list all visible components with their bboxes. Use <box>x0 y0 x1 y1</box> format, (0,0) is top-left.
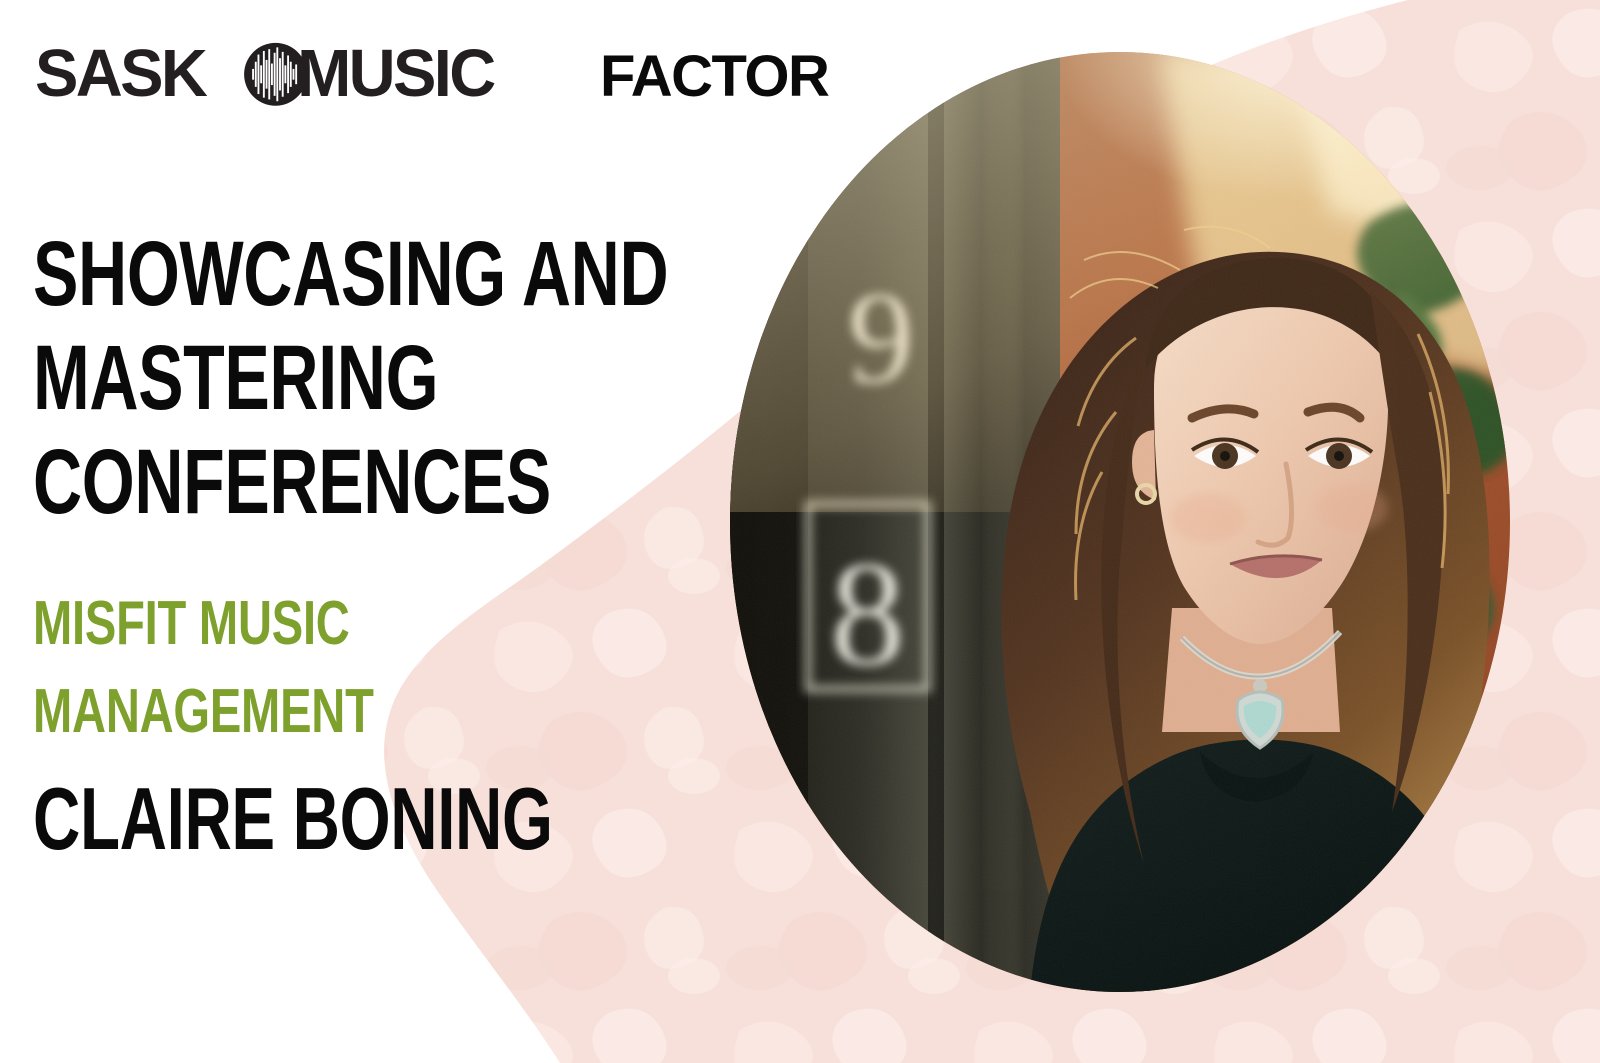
waveform-circle-icon <box>244 43 307 106</box>
factor-logo-text: FACTOR <box>600 46 829 108</box>
headline-line-2: MASTERING <box>33 326 566 430</box>
subtitle-line-2: MANAGEMENT <box>33 668 580 756</box>
headline-block: SHOWCASING AND MASTERING CONFERENCES MIS… <box>33 222 753 868</box>
svg-text:SASK: SASK <box>35 42 207 110</box>
headline-line-3: CONFERENCES <box>33 430 566 534</box>
factor-logo: FACTOR <box>600 46 850 108</box>
speaker-name: CLAIRE BONING <box>33 770 569 868</box>
text-content: SASK MUSIC <box>0 0 780 1063</box>
headline-line-1: SHOWCASING AND <box>33 222 566 326</box>
promo-poster: 9 8 <box>0 0 1600 1063</box>
subtitle-line-1: MISFIT MUSIC <box>33 580 580 668</box>
logo-row: SASK MUSIC <box>35 42 850 112</box>
svg-text:MUSIC: MUSIC <box>297 42 495 110</box>
saskmusic-logo: SASK MUSIC <box>35 42 538 112</box>
speaker-portrait: 9 8 <box>730 52 1510 992</box>
